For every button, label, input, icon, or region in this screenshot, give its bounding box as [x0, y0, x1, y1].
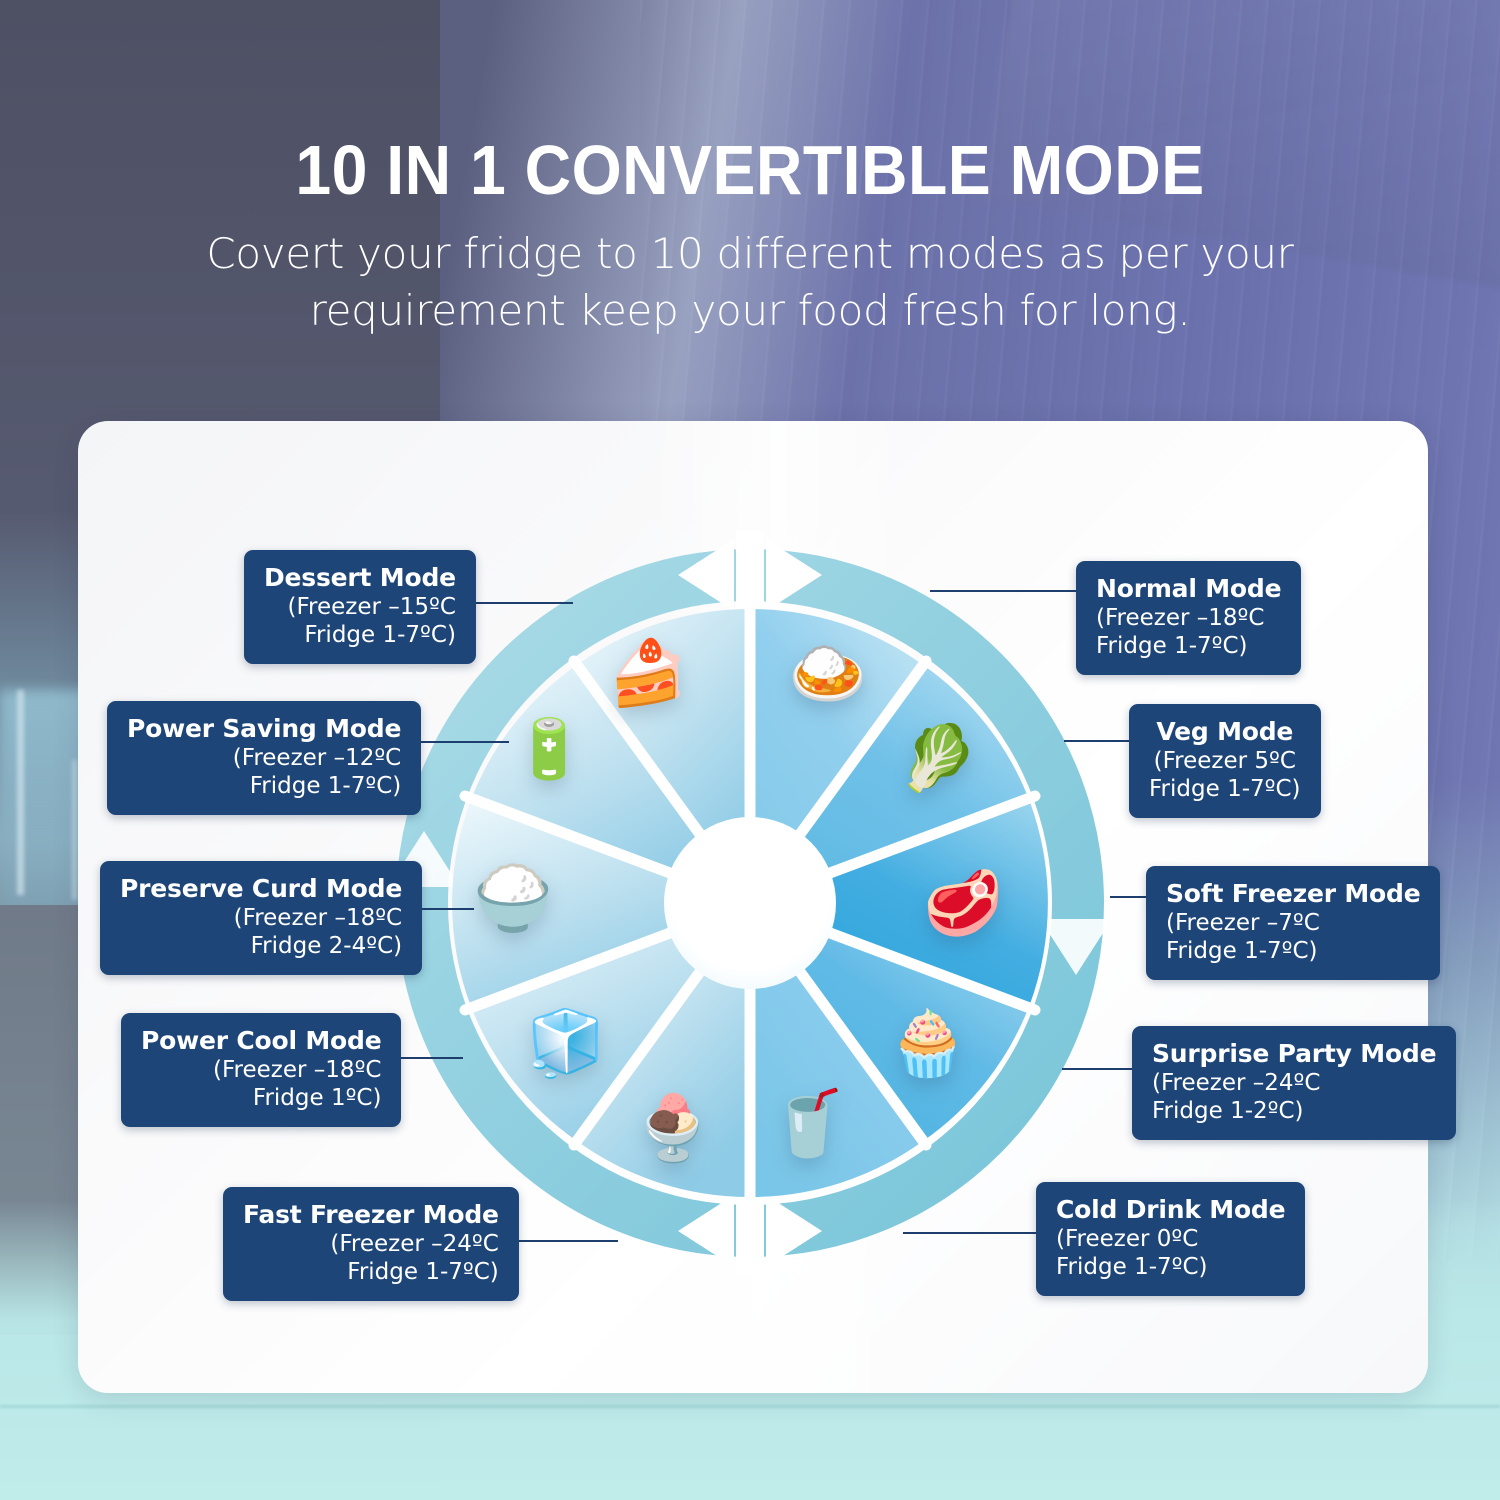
mode-badge-soft-freezer[interactable]: Soft Freezer Mode (Freezer –7ºC Fridge 1…	[1146, 866, 1440, 980]
mode-name-fast-freezer: Fast Freezer Mode	[243, 1200, 499, 1230]
mode-badge-normal[interactable]: Normal Mode (Freezer –18ºC Fridge 1-7ºC)	[1076, 561, 1301, 675]
mode-icon-preserve-curd: 🍚	[473, 866, 553, 930]
mode-name-surprise-party: Surprise Party Mode	[1152, 1039, 1436, 1069]
mode-icon-cold-drink: 🥤	[768, 1091, 848, 1155]
mode-fridge-normal: Fridge 1-7ºC)	[1096, 632, 1281, 660]
convertible-mode-wheel: 🍰 🔋 🍚 🧊 🍨 🍛 🥬 🥩 🧁 🥤	[378, 531, 1122, 1275]
mode-name-dessert: Dessert Mode	[264, 563, 456, 593]
mode-fridge-preserve-curd: Fridge 2-4ºC)	[120, 932, 402, 960]
mode-freezer-soft-freezer: (Freezer –7ºC	[1166, 909, 1420, 937]
mode-badge-dessert[interactable]: Dessert Mode (Freezer –15ºC Fridge 1-7ºC…	[244, 550, 476, 664]
mode-freezer-power-cool: (Freezer –18ºC	[141, 1056, 381, 1084]
mode-freezer-surprise-party: (Freezer –24ºC	[1152, 1069, 1436, 1097]
page-subtitle: Covert your fridge to 10 different modes…	[0, 225, 1500, 339]
mode-icon-soft-freezer: 🥩	[923, 871, 1003, 935]
mode-badge-power-saving[interactable]: Power Saving Mode (Freezer –12ºC Fridge …	[107, 701, 421, 815]
background-left-pole	[17, 690, 24, 895]
mode-freezer-preserve-curd: (Freezer –18ºC	[120, 904, 402, 932]
mode-fridge-veg: Fridge 1-7ºC)	[1149, 775, 1301, 803]
mode-freezer-dessert: (Freezer –15ºC	[264, 593, 456, 621]
mode-icon-power-saving: 🔋	[513, 721, 585, 779]
mode-name-soft-freezer: Soft Freezer Mode	[1166, 879, 1420, 909]
mode-icon-normal: 🍛	[788, 641, 868, 705]
poster-stage: 10 IN 1 CONVERTIBLE MODE Covert your fri…	[0, 0, 1500, 1500]
mode-freezer-normal: (Freezer –18ºC	[1096, 604, 1281, 632]
mode-fridge-power-saving: Fridge 1-7ºC)	[127, 772, 401, 800]
background-left-pole-secondary	[72, 760, 77, 900]
mode-freezer-veg: (Freezer 5ºC	[1149, 747, 1301, 775]
mode-name-power-saving: Power Saving Mode	[127, 714, 401, 744]
mode-name-normal: Normal Mode	[1096, 574, 1281, 604]
mode-icon-veg: 🥬	[898, 726, 978, 790]
mode-freezer-fast-freezer: (Freezer –24ºC	[243, 1230, 499, 1258]
connector-cold-drink	[903, 1232, 1036, 1234]
mode-freezer-cold-drink: (Freezer 0ºC	[1056, 1225, 1285, 1253]
mode-badge-surprise-party[interactable]: Surprise Party Mode (Freezer –24ºC Fridg…	[1132, 1026, 1456, 1140]
mode-name-preserve-curd: Preserve Curd Mode	[120, 874, 402, 904]
header: 10 IN 1 CONVERTIBLE MODE Covert your fri…	[0, 0, 1500, 339]
wheel-hub	[664, 817, 836, 989]
mode-badge-preserve-curd[interactable]: Preserve Curd Mode (Freezer –18ºC Fridge…	[100, 861, 422, 975]
mode-icon-fast-freezer: 🍨	[633, 1096, 713, 1160]
connector-veg	[1064, 740, 1130, 742]
mode-badge-power-cool[interactable]: Power Cool Mode (Freezer –18ºC Fridge 1º…	[121, 1013, 401, 1127]
page-title: 10 IN 1 CONVERTIBLE MODE	[60, 134, 1440, 207]
mode-fridge-power-cool: Fridge 1ºC)	[141, 1084, 381, 1112]
connector-surprise	[1062, 1068, 1132, 1070]
mode-fridge-soft-freezer: Fridge 1-7ºC)	[1166, 937, 1420, 965]
mode-fridge-surprise-party: Fridge 1-2ºC)	[1152, 1097, 1436, 1125]
mode-freezer-power-saving: (Freezer –12ºC	[127, 744, 401, 772]
mode-badge-veg[interactable]: Veg Mode (Freezer 5ºC Fridge 1-7ºC)	[1129, 704, 1321, 818]
mode-name-cold-drink: Cold Drink Mode	[1056, 1195, 1285, 1225]
mode-icon-power-cool: 🧊	[526, 1011, 606, 1075]
mode-icon-dessert: 🍰	[608, 641, 688, 705]
background-water-line	[0, 1405, 1500, 1408]
mode-name-veg: Veg Mode	[1149, 717, 1301, 747]
mode-icon-surprise-party: 🧁	[888, 1011, 968, 1075]
mode-name-power-cool: Power Cool Mode	[141, 1026, 381, 1056]
mode-fridge-cold-drink: Fridge 1-7ºC)	[1056, 1253, 1285, 1281]
mode-badge-cold-drink[interactable]: Cold Drink Mode (Freezer 0ºC Fridge 1-7º…	[1036, 1182, 1305, 1296]
mode-fridge-fast-freezer: Fridge 1-7ºC)	[243, 1258, 499, 1286]
connector-soft-freezer	[1110, 896, 1146, 898]
mode-fridge-dessert: Fridge 1-7ºC)	[264, 621, 456, 649]
mode-badge-fast-freezer[interactable]: Fast Freezer Mode (Freezer –24ºC Fridge …	[223, 1187, 519, 1301]
connector-normal	[930, 590, 1076, 592]
